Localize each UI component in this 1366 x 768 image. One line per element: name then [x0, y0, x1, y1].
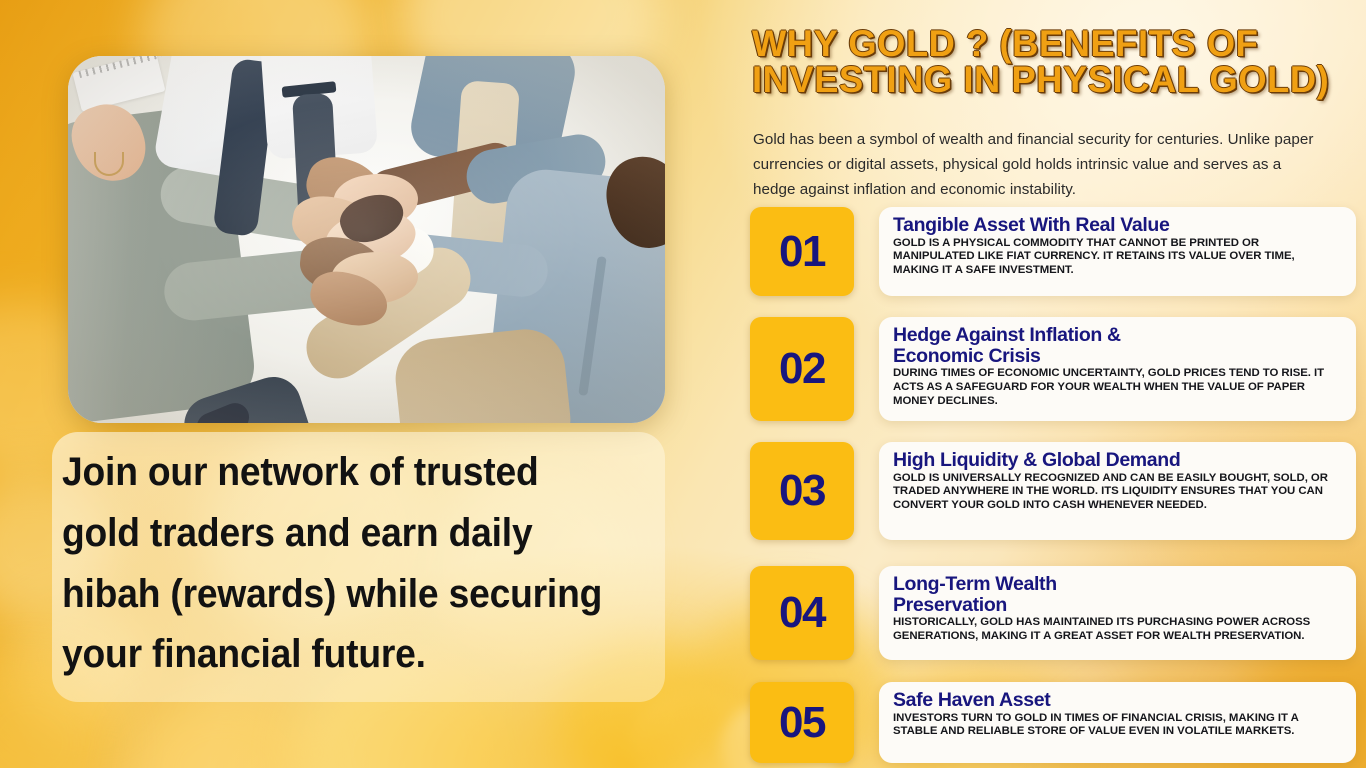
- benefits-list: 01 Tangible Asset With Real Value GOLD I…: [750, 207, 1356, 768]
- page-title: WHY GOLD ? (BENEFITS OF INVESTING IN PHY…: [752, 26, 1340, 97]
- benefit-body: HISTORICALLY, GOLD HAS MAINTAINED ITS PU…: [893, 616, 1340, 643]
- number-badge-label: 02: [779, 347, 825, 391]
- list-item: 05 Safe Haven Asset INVESTORS TURN TO GO…: [750, 682, 1356, 768]
- benefit-card: Long-Term Wealth Preservation HISTORICAL…: [879, 566, 1356, 660]
- benefit-card: Tangible Asset With Real Value GOLD IS A…: [879, 207, 1356, 296]
- benefit-heading: Safe Haven Asset: [893, 690, 1340, 711]
- title-block: WHY GOLD ? (BENEFITS OF INVESTING IN PHY…: [752, 26, 1352, 97]
- benefit-heading: Long-Term Wealth Preservation: [893, 574, 1340, 615]
- number-badge: 04: [750, 566, 854, 660]
- right-column: WHY GOLD ? (BENEFITS OF INVESTING IN PHY…: [714, 0, 1366, 768]
- left-column: Join our network of trusted gold traders…: [0, 0, 714, 768]
- number-badge: 02: [750, 317, 854, 421]
- benefit-body: GOLD IS A PHYSICAL COMMODITY THAT CANNOT…: [893, 237, 1340, 278]
- benefit-body: DURING TIMES OF ECONOMIC UNCERTAINTY, GO…: [893, 367, 1340, 408]
- number-badge: 05: [750, 682, 854, 763]
- number-badge-label: 04: [779, 591, 825, 635]
- number-badge: 01: [750, 207, 854, 296]
- list-item: 01 Tangible Asset With Real Value GOLD I…: [750, 207, 1356, 307]
- list-item: 04 Long-Term Wealth Preservation HISTORI…: [750, 566, 1356, 676]
- photo-vignette: [68, 56, 665, 423]
- number-badge: 03: [750, 442, 854, 540]
- team-photo: [68, 56, 665, 423]
- benefit-card: Safe Haven Asset INVESTORS TURN TO GOLD …: [879, 682, 1356, 763]
- number-badge-label: 01: [779, 230, 825, 274]
- benefit-heading: Hedge Against Inflation & Economic Crisi…: [893, 325, 1340, 366]
- benefit-heading: High Liquidity & Global Demand: [893, 450, 1340, 471]
- benefit-card: Hedge Against Inflation & Economic Crisi…: [879, 317, 1356, 421]
- intro-paragraph: Gold has been a symbol of wealth and fin…: [753, 128, 1328, 203]
- benefit-body: INVESTORS TURN TO GOLD IN TIMES OF FINAN…: [893, 712, 1340, 739]
- benefit-heading: Tangible Asset With Real Value: [893, 215, 1340, 236]
- photo-content: [68, 56, 665, 423]
- list-item: 02 Hedge Against Inflation & Economic Cr…: [750, 317, 1356, 434]
- benefit-body: GOLD IS UNIVERSALLY RECOGNIZED AND CAN B…: [893, 472, 1340, 513]
- number-badge-label: 03: [779, 469, 825, 513]
- number-badge-label: 05: [779, 701, 825, 745]
- benefit-card: High Liquidity & Global Demand GOLD IS U…: [879, 442, 1356, 540]
- list-item: 03 High Liquidity & Global Demand GOLD I…: [750, 442, 1356, 558]
- headline-text: Join our network of trusted gold traders…: [62, 442, 620, 685]
